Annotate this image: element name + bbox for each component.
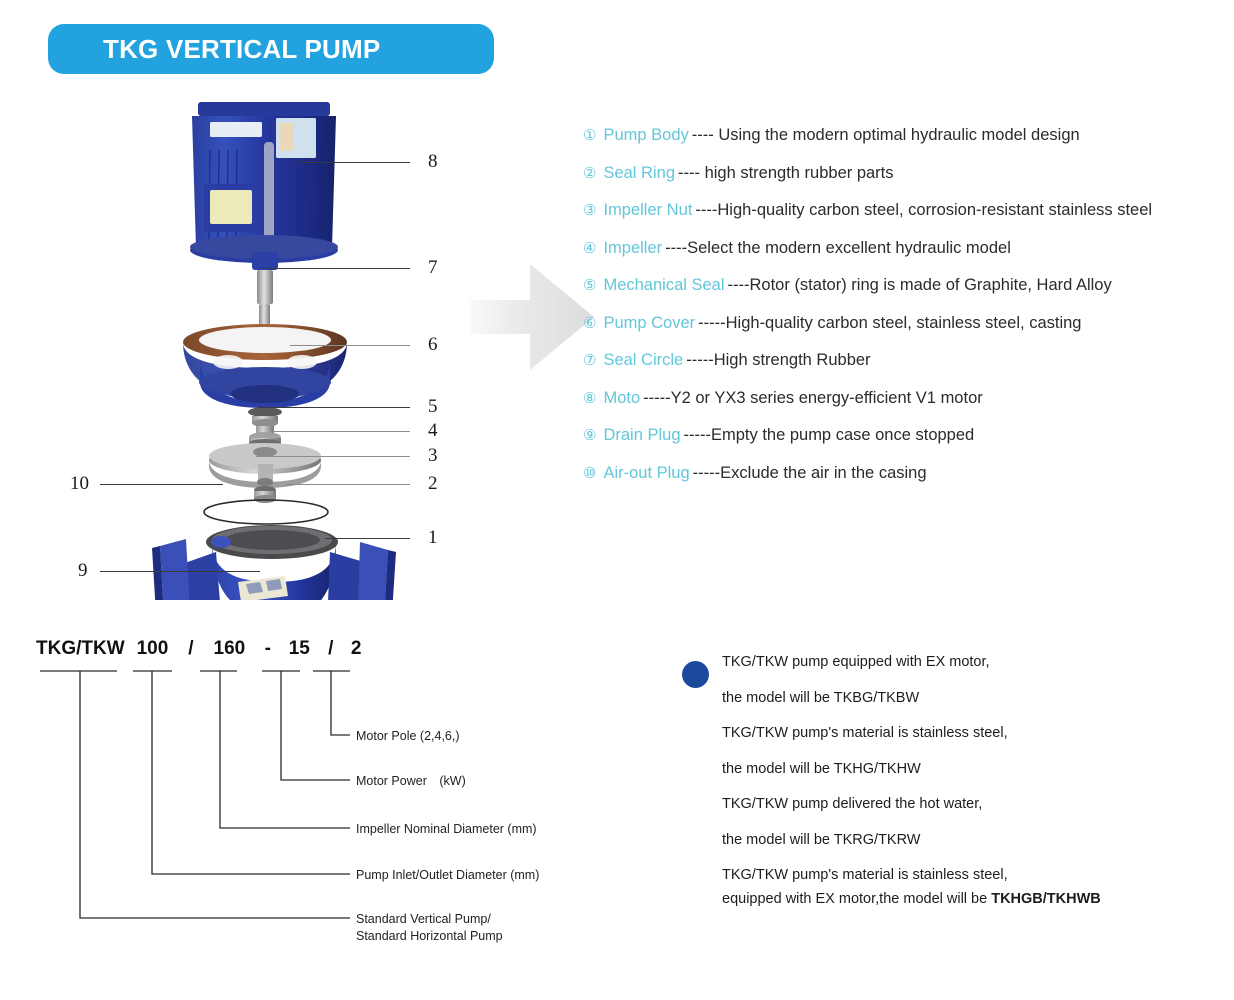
callout-line-10 bbox=[100, 484, 223, 485]
callout-line-7 bbox=[263, 268, 410, 269]
note-line-6: the model will be TKRG/TKRW bbox=[722, 833, 1222, 848]
inlet-flange bbox=[152, 539, 190, 600]
legend-number-icon-3: ③ bbox=[583, 203, 596, 218]
legend-part-name-3: Impeller Nut bbox=[603, 201, 692, 220]
legend-item-1: ① Pump Body ---- Using the modern optima… bbox=[583, 126, 1231, 145]
callout-number-5: 5 bbox=[428, 397, 438, 416]
legend-number-icon-1: ① bbox=[583, 128, 596, 143]
legend-item-8: ⑧ Moto -----Y2 or YX3 series energy-effi… bbox=[583, 389, 1231, 408]
callout-number-8: 8 bbox=[428, 152, 438, 171]
callout-line-9 bbox=[100, 571, 260, 572]
pump-cover-part bbox=[183, 324, 347, 408]
impeller-part bbox=[209, 443, 321, 488]
model-code-breakdown: TKG/TKW 100 / 160 - 15 / 2 Motor Pole bbox=[0, 630, 620, 960]
callout-number-10: 10 bbox=[70, 474, 89, 493]
legend-item-4: ④ Impeller ----Select the modern excelle… bbox=[583, 239, 1231, 258]
callout-line-1 bbox=[325, 538, 410, 539]
note-line-3: TKG/TKW pump's material is stainless ste… bbox=[722, 726, 1222, 741]
legend-item-2: ② Seal Ring ---- high strength rubber pa… bbox=[583, 164, 1231, 183]
model-label-standard-pump-line2: Standard Horizontal Pump bbox=[356, 927, 503, 945]
air-out-plug bbox=[211, 536, 231, 548]
callout-number-3: 3 bbox=[428, 446, 438, 465]
callout-line-8 bbox=[300, 162, 410, 163]
legend-item-3: ③ Impeller Nut ----High-quality carbon s… bbox=[583, 201, 1231, 220]
legend-description-7: -----High strength Rubber bbox=[686, 351, 870, 370]
model-label-impeller-diameter: Impeller Nominal Diameter (mm) bbox=[356, 820, 537, 838]
legend-number-icon-5: ⑤ bbox=[583, 278, 596, 293]
note-line-1: TKG/TKW pump equipped with EX motor, bbox=[722, 655, 1222, 670]
legend-number-icon-2: ② bbox=[583, 166, 596, 181]
callout-number-1: 1 bbox=[428, 528, 438, 547]
legend-part-name-7: Seal Circle bbox=[603, 351, 683, 370]
legend-part-name-1: Pump Body bbox=[603, 126, 688, 145]
legend-description-8: -----Y2 or YX3 series energy-efficient V… bbox=[643, 389, 983, 408]
legend-item-7: ⑦ Seal Circle -----High strength Rubber bbox=[583, 351, 1231, 370]
mechanical-seal-part bbox=[248, 407, 282, 447]
model-label-standard-pump-line1: Standard Vertical Pump/ bbox=[356, 910, 491, 928]
legend-item-6: ⑥ Pump Cover -----High-quality carbon st… bbox=[583, 314, 1231, 333]
note-line-7: TKG/TKW pump's material is stainless ste… bbox=[722, 868, 1222, 883]
callout-line-6 bbox=[290, 345, 410, 346]
legend-part-name-5: Mechanical Seal bbox=[603, 276, 724, 295]
legend-description-4: ----Select the modern excellent hydrauli… bbox=[665, 239, 1011, 258]
legend-description-3: ----High-quality carbon steel, corrosion… bbox=[695, 201, 1152, 220]
model-code-leader-lines bbox=[0, 630, 620, 960]
legend-number-icon-7: ⑦ bbox=[583, 353, 596, 368]
legend-description-10: -----Exclude the air in the casing bbox=[693, 464, 927, 483]
model-variants-notes: TKG/TKW pump equipped with EX motor, the… bbox=[682, 655, 1222, 927]
outlet-flange bbox=[358, 542, 396, 600]
notes-lines: TKG/TKW pump equipped with EX motor, the… bbox=[722, 655, 1222, 906]
legend-part-name-8: Moto bbox=[603, 389, 640, 408]
legend-part-name-2: Seal Ring bbox=[603, 164, 675, 183]
legend-item-9: ⑨ Drain Plug -----Empty the pump case on… bbox=[583, 426, 1231, 445]
legend-description-5: ----Rotor (stator) ring is made of Graph… bbox=[728, 276, 1112, 295]
parts-legend-list: ① Pump Body ---- Using the modern optima… bbox=[583, 126, 1231, 501]
motor-part bbox=[190, 102, 338, 263]
legend-number-icon-9: ⑨ bbox=[583, 428, 596, 443]
legend-item-5: ⑤ Mechanical Seal ----Rotor (stator) rin… bbox=[583, 276, 1231, 295]
title-banner: TKG VERTICAL PUMP bbox=[48, 24, 494, 74]
callout-line-4 bbox=[270, 431, 410, 432]
callout-number-7: 7 bbox=[428, 258, 438, 277]
callout-number-2: 2 bbox=[428, 474, 438, 493]
right-arrow-icon bbox=[468, 258, 596, 376]
page-title: TKG VERTICAL PUMP bbox=[48, 34, 380, 65]
callout-number-9: 9 bbox=[78, 561, 88, 580]
callout-line-2 bbox=[285, 484, 410, 485]
legend-number-icon-10: ⑩ bbox=[583, 466, 596, 481]
model-label-motor-pole: Motor Pole (2,4,6,) bbox=[356, 727, 460, 745]
note-line-8-text: equipped with EX motor,the model will be bbox=[722, 891, 991, 907]
legend-description-1: ---- Using the modern optimal hydraulic … bbox=[692, 126, 1080, 145]
legend-number-icon-4: ④ bbox=[583, 241, 596, 256]
legend-description-2: ---- high strength rubber parts bbox=[678, 164, 894, 183]
callout-line-5 bbox=[258, 407, 410, 408]
pump-body-part bbox=[152, 525, 396, 600]
callout-number-6: 6 bbox=[428, 335, 438, 354]
legend-number-icon-6: ⑥ bbox=[583, 316, 596, 331]
callout-number-4: 4 bbox=[428, 421, 438, 440]
note-line-8-bold: TKHGB/TKHWB bbox=[991, 891, 1101, 907]
legend-description-9: -----Empty the pump case once stopped bbox=[684, 426, 975, 445]
note-line-4: the model will be TKHG/TKHW bbox=[722, 762, 1222, 777]
legend-part-name-9: Drain Plug bbox=[603, 426, 680, 445]
model-label-motor-power: Motor Power (kW) bbox=[356, 772, 466, 790]
note-line-5: TKG/TKW pump delivered the hot water, bbox=[722, 797, 1222, 812]
note-line-8: equipped with EX motor,the model will be… bbox=[722, 892, 1222, 907]
legend-item-10: ⑩ Air-out Plug -----Exclude the air in t… bbox=[583, 464, 1231, 483]
legend-part-name-6: Pump Cover bbox=[603, 314, 695, 333]
legend-description-6: -----High-quality carbon steel, stainles… bbox=[698, 314, 1081, 333]
legend-number-icon-8: ⑧ bbox=[583, 391, 596, 406]
model-label-inlet-outlet-diameter: Pump Inlet/Outlet Diameter (mm) bbox=[356, 866, 539, 884]
legend-part-name-4: Impeller bbox=[603, 239, 662, 258]
note-line-2: the model will be TKBG/TKBW bbox=[722, 691, 1222, 706]
bullet-point-icon bbox=[682, 661, 709, 688]
callout-line-3 bbox=[256, 456, 410, 457]
seal-ring-part bbox=[204, 500, 328, 524]
legend-part-name-10: Air-out Plug bbox=[603, 464, 689, 483]
